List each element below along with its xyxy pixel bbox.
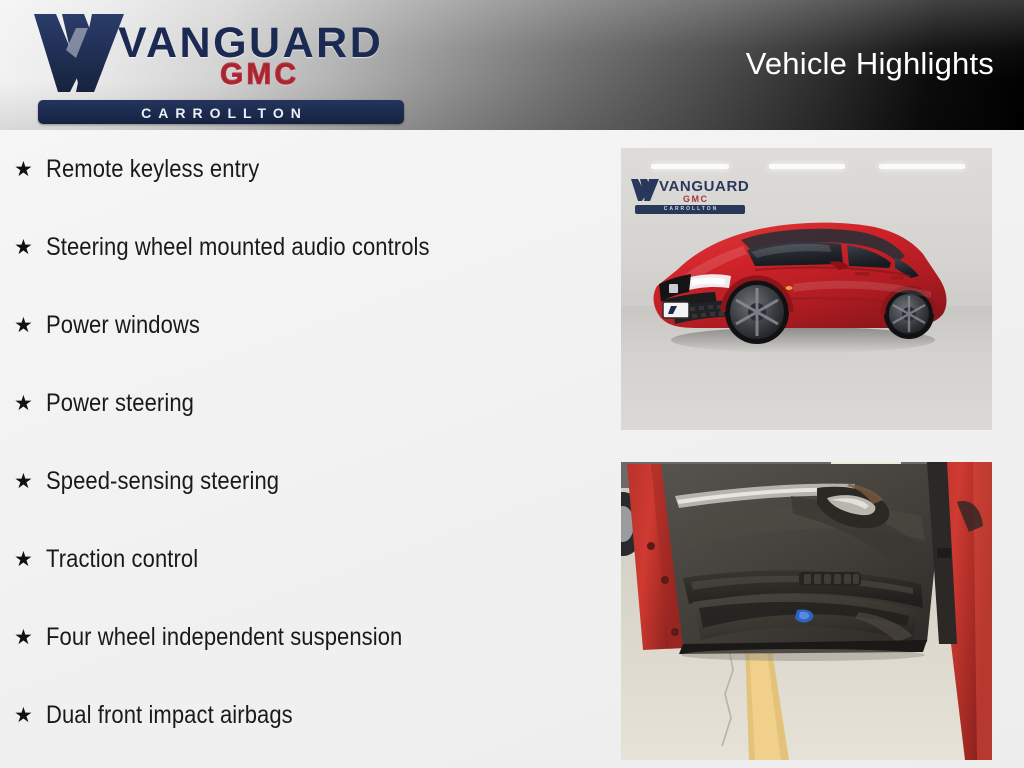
list-item: ★ Four wheel independent suspension (0, 598, 600, 676)
page-title: Vehicle Highlights (746, 46, 994, 82)
feature-label: Power windows (46, 311, 534, 340)
page-content: ★ Remote keyless entry ★ Steering wheel … (0, 130, 1024, 768)
vanguard-w-monogram-icon (631, 178, 659, 202)
watermark-location-bar: CARROLLTON (635, 205, 745, 214)
feature-label: Power steering (46, 389, 534, 418)
logo-brand-gmc: GMC (220, 60, 299, 90)
vehicle-photo-exterior[interactable]: VANGUARD GMC CARROLLTON (621, 148, 992, 430)
star-bullet-icon: ★ (14, 237, 46, 258)
star-bullet-icon: ★ (14, 159, 46, 180)
feature-label: Steering wheel mounted audio controls (46, 233, 534, 262)
watermark-wordmark: VANGUARD (659, 179, 749, 194)
dealer-logo[interactable]: VANGUARD GMC CARROLLTON (24, 8, 404, 124)
list-item: ★ Remote keyless entry (0, 130, 600, 208)
page-header: VANGUARD GMC CARROLLTON Vehicle Highligh… (0, 0, 1024, 130)
feature-label: Remote keyless entry (46, 155, 534, 184)
ceiling-light (879, 164, 965, 169)
list-item: ★ Power steering (0, 364, 600, 442)
watermark-location-label: CARROLLTON (635, 206, 745, 212)
red-civic-hatchback-illustration (643, 200, 963, 360)
star-bullet-icon: ★ (14, 315, 46, 336)
list-item: ★ Power windows (0, 286, 600, 364)
feature-label: Traction control (46, 545, 534, 574)
logo-location-label: CARROLLTON (38, 105, 404, 121)
ceiling-light (769, 164, 845, 169)
star-bullet-icon: ★ (14, 549, 46, 570)
feature-label: Dual front impact airbags (46, 701, 534, 730)
ceiling-light (651, 164, 729, 169)
star-bullet-icon: ★ (14, 705, 46, 726)
feature-label: Four wheel independent suspension (46, 623, 534, 652)
star-bullet-icon: ★ (14, 627, 46, 648)
star-bullet-icon: ★ (14, 393, 46, 414)
vehicle-photo-interior[interactable] (621, 462, 992, 760)
list-item: ★ Dual front impact airbags (0, 676, 600, 754)
list-item: ★ Speed-sensing steering (0, 442, 600, 520)
vanguard-w-monogram-icon (32, 10, 128, 96)
star-bullet-icon: ★ (14, 471, 46, 492)
list-item: ★ Traction control (0, 520, 600, 598)
photo-watermark-logo: VANGUARD GMC CARROLLTON (631, 176, 756, 216)
feature-label: Speed-sensing steering (46, 467, 534, 496)
vehicle-features-list: ★ Remote keyless entry ★ Steering wheel … (0, 130, 600, 754)
watermark-brand-gmc: GMC (683, 195, 709, 204)
logo-location-bar: CARROLLTON (38, 100, 404, 124)
list-item: ★ Steering wheel mounted audio controls (0, 208, 600, 286)
